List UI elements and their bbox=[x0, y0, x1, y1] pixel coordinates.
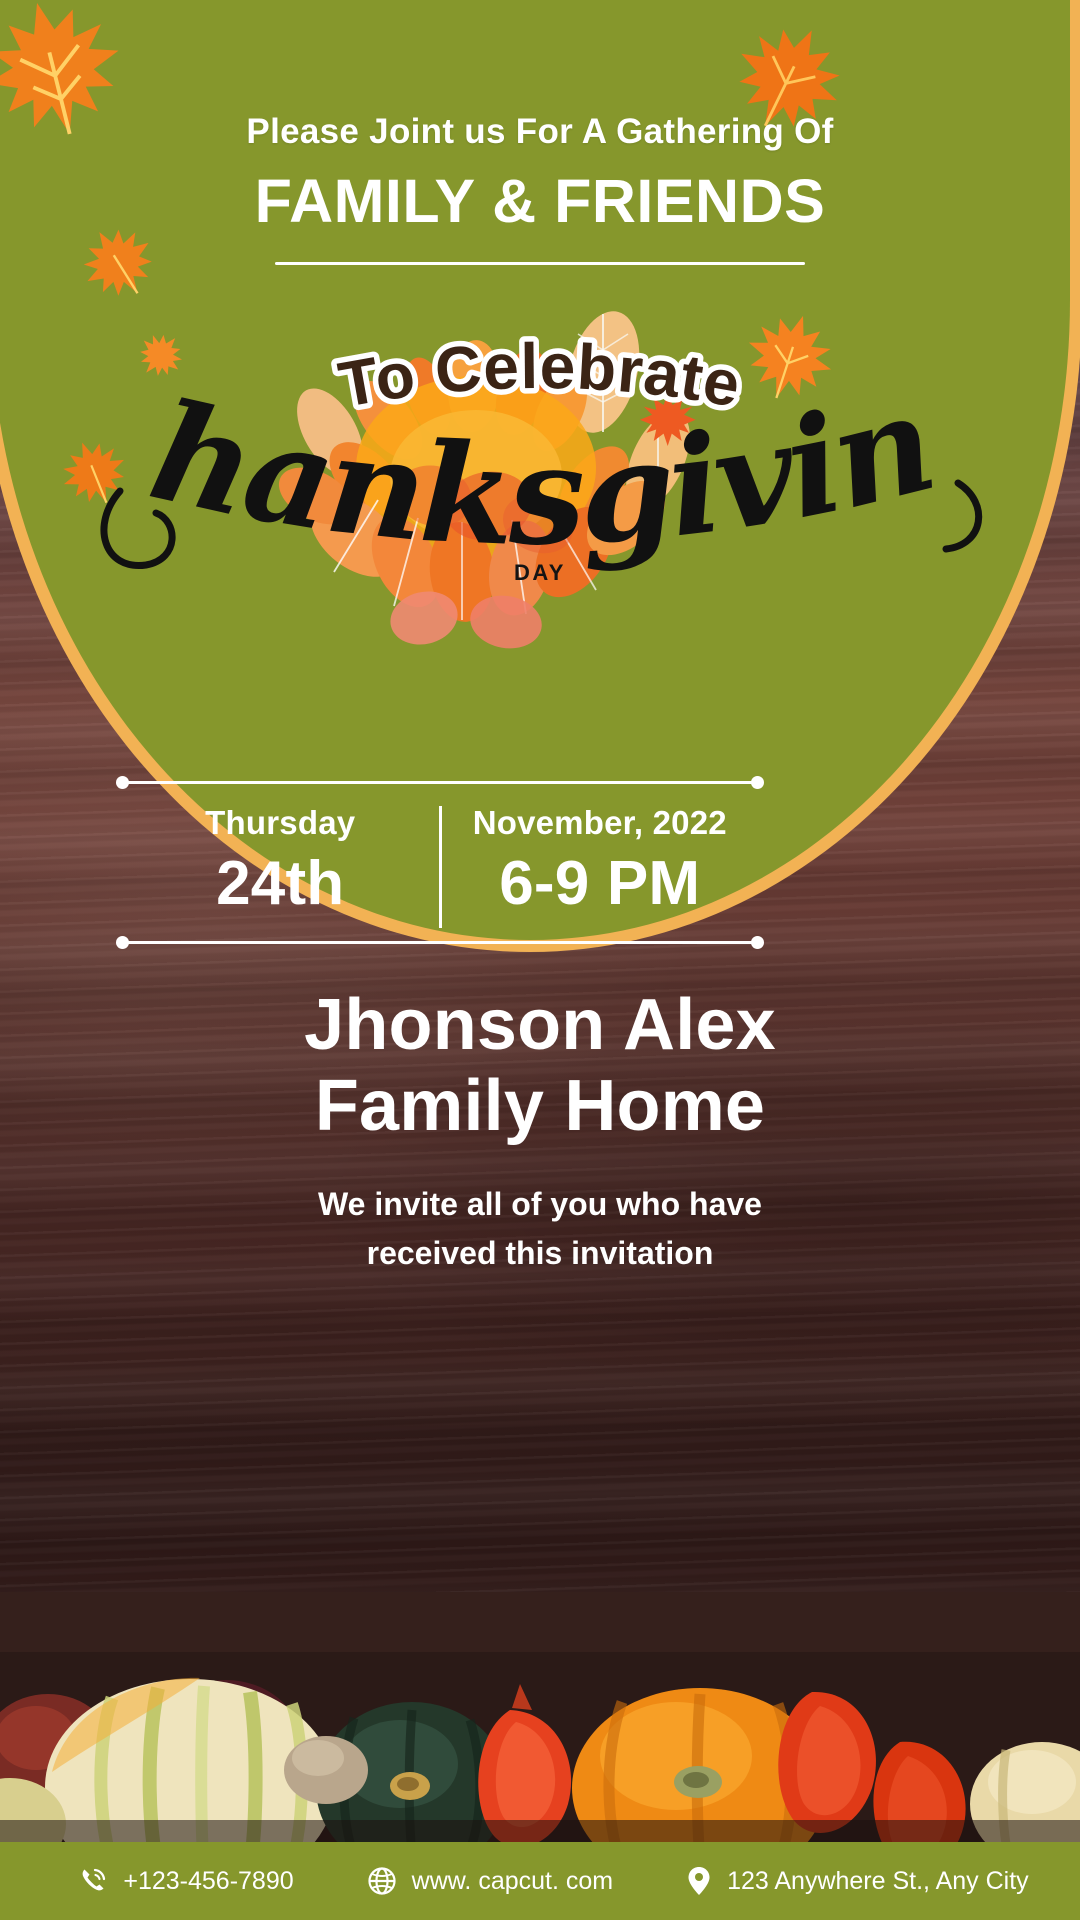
footer-website-text: www. capcut. com bbox=[412, 1867, 613, 1896]
footer-address-item[interactable]: 123 Anywhere St., Any City bbox=[685, 1865, 1029, 1897]
date-column: Thursday 24th bbox=[122, 798, 439, 938]
header-block: Please Joint us For A Gathering Of FAMIL… bbox=[0, 112, 1080, 265]
host-line-2: Family Home bbox=[0, 1066, 1080, 1147]
event-month-year: November, 2022 bbox=[442, 804, 759, 842]
event-weekday: Thursday bbox=[122, 804, 439, 842]
footer-address-text: 123 Anywhere St., Any City bbox=[727, 1867, 1029, 1896]
time-column: November, 2022 6-9 PM bbox=[442, 798, 759, 938]
date-divider-bottom bbox=[122, 941, 758, 944]
date-divider-top bbox=[122, 781, 758, 784]
footer-phone-item[interactable]: +123-456-7890 bbox=[77, 1865, 293, 1897]
phone-icon bbox=[77, 1865, 109, 1897]
date-time-row: Thursday 24th November, 2022 6-9 PM bbox=[122, 798, 758, 938]
globe-icon bbox=[366, 1865, 398, 1897]
pumpkin-produce-photo bbox=[0, 1592, 1080, 1842]
thanksgiving-text: Thanksgiving bbox=[60, 395, 947, 577]
header-line-1: Please Joint us For A Gathering Of bbox=[0, 112, 1080, 152]
host-line-1: Jhonson Alex bbox=[0, 985, 1080, 1066]
header-divider bbox=[275, 262, 805, 265]
thanksgiving-invitation-poster: Please Joint us For A Gathering Of FAMIL… bbox=[0, 0, 1080, 1920]
host-block: Jhonson Alex Family Home bbox=[0, 985, 1080, 1146]
event-time: 6-9 PM bbox=[442, 848, 759, 919]
footer-website-item[interactable]: www. capcut. com bbox=[366, 1865, 613, 1897]
header-line-2: FAMILY & FRIENDS bbox=[0, 166, 1080, 236]
svg-text:Thanksgiving: Thanksgiving bbox=[60, 395, 947, 577]
location-pin-icon bbox=[685, 1865, 713, 1897]
footer-phone-text: +123-456-7890 bbox=[123, 1867, 293, 1896]
event-day-number: 24th bbox=[122, 848, 439, 919]
day-label: DAY bbox=[0, 560, 1080, 586]
invitation-note: We invite all of you who have received t… bbox=[0, 1180, 1080, 1277]
invitation-line-2: received this invitation bbox=[0, 1229, 1080, 1278]
footer-contact-bar: +123-456-7890 www. capcut. com bbox=[0, 1842, 1080, 1920]
invitation-line-1: We invite all of you who have bbox=[0, 1180, 1080, 1229]
